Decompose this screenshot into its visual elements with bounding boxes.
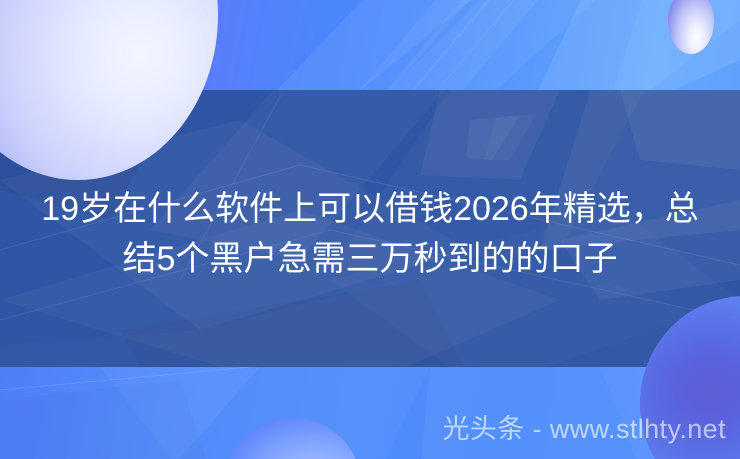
promo-banner: 19岁在什么软件上可以借钱2026年精选，总结5个黑户急需三万秒到的的口子 光头… xyxy=(0,0,740,459)
site-watermark: 光头条 - www.stlhty.net xyxy=(442,413,726,445)
